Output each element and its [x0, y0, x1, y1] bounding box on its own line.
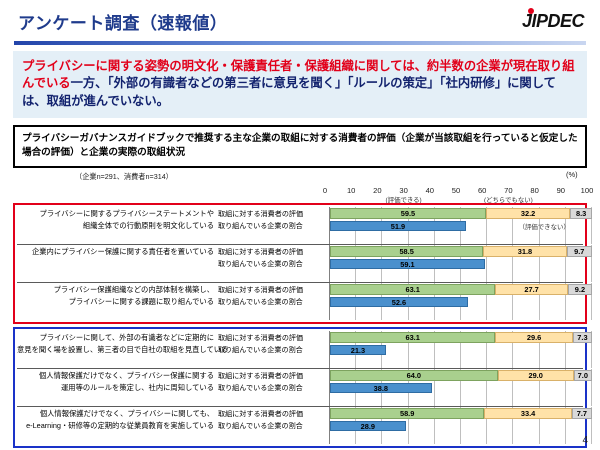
question-block: プライバシーに関して、外部の有識者などに定期的に取組に対する消費者の評価63.1…: [17, 331, 583, 368]
gridline: [591, 382, 592, 395]
gridline: [565, 382, 566, 395]
gridline: [565, 356, 566, 368]
gridline: [486, 394, 487, 406]
gridline: [512, 232, 513, 244]
gridline: [486, 356, 487, 368]
plot-company: 52.6: [329, 296, 583, 309]
question-label-line2: 組織全体での行動原則を明文化している: [17, 221, 214, 231]
consumer-evaluation-row: 個人情報保護だけでなく、プライバシー保護に関する取組に対する消費者の評価64.0…: [17, 369, 583, 382]
gridline: [408, 308, 409, 320]
gridline: [486, 308, 487, 320]
gridline: [591, 232, 592, 244]
segment-company-share: 28.9: [330, 421, 406, 432]
gridline: [539, 270, 540, 282]
gridline: [591, 308, 592, 320]
series-label-company: 取り組んでいる企業の割合: [218, 297, 322, 307]
gridline: [408, 420, 409, 433]
plot-company: 28.9: [329, 420, 583, 433]
segment-company-share: 51.9: [330, 221, 466, 232]
series-label-consumer: 取組に対する消費者の評価: [218, 285, 322, 295]
gridline: [486, 232, 487, 244]
plot-consumer: 63.127.79.2: [329, 283, 583, 296]
consumer-evaluation-row: プライバシー保護組織などの内部体制を構築し、取組に対する消費者の評価63.127…: [17, 283, 583, 296]
gridline: [408, 432, 409, 444]
segment-can-evaluate: 64.0: [330, 370, 498, 381]
gridline: [355, 432, 356, 444]
gridline: [565, 394, 566, 406]
gridline: [486, 382, 487, 395]
question-block: 個人情報保護だけでなく、プライバシーに関しても、取組に対する消費者の評価58.9…: [17, 406, 583, 444]
plot-company: 21.3: [329, 344, 583, 357]
gridline: [512, 270, 513, 282]
series-label-company: 取り組んでいる企業の割合: [218, 221, 322, 231]
question-block: プライバシーに関するプライバシーステートメントや取組に対する消費者の評価59.5…: [17, 207, 583, 244]
segment-cannot-evaluate: 7.7: [572, 408, 592, 419]
gridline: [486, 420, 487, 433]
question-block: プライバシー保護組織などの内部体制を構築し、取組に対する消費者の評価63.127…: [17, 282, 583, 320]
gridline: [591, 356, 592, 368]
gridline: [591, 258, 592, 271]
series-label-consumer: 取組に対する消費者の評価: [218, 247, 322, 257]
gridline: [539, 344, 540, 357]
gridline: [539, 296, 540, 309]
gridline: [434, 394, 435, 406]
segment-cannot-evaluate: 9.2: [568, 284, 592, 295]
slide-header: アンケート調査（速報値） JIPDEC: [0, 0, 600, 46]
gridline: [408, 232, 409, 244]
gridline: [434, 270, 435, 282]
gridline: [460, 270, 461, 282]
gridline: [434, 232, 435, 244]
gridline: [539, 432, 540, 444]
gridline: [539, 382, 540, 395]
row-spacer: [17, 308, 583, 320]
gridline: [512, 432, 513, 444]
row-spacer: [17, 394, 583, 406]
plot-spacer: [329, 432, 583, 444]
question-label-line1: 企業内にプライバシー保護に関する責任者を置いている: [17, 247, 214, 257]
x-axis-tick: 100: [581, 186, 594, 195]
gridline: [486, 296, 487, 309]
gridline: [381, 394, 382, 406]
x-axis-tick: 10: [347, 186, 355, 195]
question-label-line1: プライバシーに関するプライバシーステートメントや: [17, 209, 214, 219]
gridline: [591, 432, 592, 444]
x-axis-tick: 50: [452, 186, 460, 195]
gridline: [565, 308, 566, 320]
gridline: [460, 382, 461, 395]
gridline: [434, 308, 435, 320]
chart-group: プライバシーに関するプライバシーステートメントや取組に対する消費者の評価59.5…: [13, 203, 587, 324]
x-axis-tick: 40: [426, 186, 434, 195]
gridline: [460, 394, 461, 406]
chart-group: プライバシーに関して、外部の有識者などに定期的に取組に対する消費者の評価63.1…: [13, 327, 587, 448]
gridline: [591, 394, 592, 406]
plot-consumer: 59.532.28.3: [329, 207, 583, 220]
row-spacer: [17, 356, 583, 368]
gridline: [591, 344, 592, 357]
question-label-line2: 意見を聞く場を設置し、第三者の目で自社の取組を見直している: [17, 345, 214, 355]
company-adoption-row: 意見を聞く場を設置し、第三者の目で自社の取組を見直している取り組んでいる企業の割…: [17, 344, 583, 357]
gridline: [408, 344, 409, 357]
gridline: [512, 420, 513, 433]
gridline: [565, 270, 566, 282]
gridline: [486, 344, 487, 357]
x-axis-tick: 0: [323, 186, 327, 195]
consumer-evaluation-row: プライバシーに関して、外部の有識者などに定期的に取組に対する消費者の評価63.1…: [17, 331, 583, 344]
segment-company-share: 38.8: [330, 383, 432, 394]
segment-can-evaluate: 58.5: [330, 246, 483, 257]
gridline: [408, 270, 409, 282]
gridline: [539, 420, 540, 433]
gridline: [512, 344, 513, 357]
consumer-evaluation-row: 個人情報保護だけでなく、プライバシーに関しても、取組に対する消費者の評価58.9…: [17, 407, 583, 420]
segment-neutral: 29.6: [495, 332, 573, 343]
percent-unit-label: (%): [566, 170, 578, 179]
series-label-consumer: 取組に対する消費者の評価: [218, 209, 322, 219]
gridline: [381, 432, 382, 444]
header-divider: [14, 41, 586, 45]
plot-spacer: [329, 308, 583, 320]
segment-neutral: 33.4: [484, 408, 572, 419]
gridline: [512, 382, 513, 395]
series-label-company: 取り組んでいる企業の割合: [218, 383, 322, 393]
x-axis-tick: 90: [557, 186, 565, 195]
segment-company-share: 21.3: [330, 345, 386, 356]
gridline: [434, 356, 435, 368]
gridline: [381, 308, 382, 320]
chart-groups: プライバシーに関するプライバシーステートメントや取組に対する消費者の評価59.5…: [13, 203, 587, 448]
company-adoption-row: プライバシーに関する課題に取り組んでいる取り組んでいる企業の割合52.6: [17, 296, 583, 309]
gridline: [539, 356, 540, 368]
segment-cannot-evaluate: 7.3: [573, 332, 592, 343]
gridline: [355, 356, 356, 368]
gridline: [512, 258, 513, 271]
gridline: [565, 344, 566, 357]
plot-consumer: 58.933.47.7: [329, 407, 583, 420]
gridline: [460, 232, 461, 244]
gridline: [460, 344, 461, 357]
x-axis-tick: 20: [373, 186, 381, 195]
jipdec-logo: JIPDEC: [522, 11, 584, 32]
plot-consumer: 64.029.07.0: [329, 369, 583, 382]
lead-statement: プライバシーに関する姿勢の明文化・保護責任者・保護組織に関しては、約半数の企業が…: [13, 51, 587, 118]
gridline: [512, 356, 513, 368]
page-title: アンケート調査（速報値）: [18, 9, 227, 34]
gridline: [565, 432, 566, 444]
gridline: [565, 258, 566, 271]
gridline: [512, 220, 513, 233]
gridline: [381, 270, 382, 282]
gridline: [486, 258, 487, 271]
row-spacer: [17, 432, 583, 444]
gridline: [355, 270, 356, 282]
plot-company: 38.8: [329, 382, 583, 395]
question-block: 個人情報保護だけでなく、プライバシー保護に関する取組に対する消費者の評価64.0…: [17, 368, 583, 406]
page-number: 4: [582, 435, 588, 446]
gridline: [539, 394, 540, 406]
question-label-line1: プライバシーに関して、外部の有識者などに定期的に: [17, 333, 214, 343]
gridline: [591, 270, 592, 282]
plot-spacer: [329, 270, 583, 282]
plot-spacer: [329, 356, 583, 368]
segment-company-share: 59.1: [330, 259, 485, 270]
segment-neutral: 29.0: [498, 370, 574, 381]
question-label-line2: e-Learning・研修等の定期的な従業員教育を実施している: [17, 421, 214, 431]
segment-company-share: 52.6: [330, 297, 468, 308]
gridline: [539, 232, 540, 244]
gridline: [460, 432, 461, 444]
gridline: [408, 356, 409, 368]
question-label-line1: プライバシー保護組織などの内部体制を構築し、: [17, 285, 214, 295]
gridline: [460, 356, 461, 368]
gridline: [355, 308, 356, 320]
question-label-line2: 運用等のルールを策定し、社内に周知している: [17, 383, 214, 393]
gridline: [512, 296, 513, 309]
sample-size-note: （企業n=291、消費者n=314）: [75, 172, 173, 182]
series-label-consumer: 取組に対する消費者の評価: [218, 409, 322, 419]
gridline: [355, 232, 356, 244]
x-axis: 0102030405060708090100(評価できる)(どちらでもない): [13, 186, 587, 203]
company-adoption-row: 組織全体での行動原則を明文化している取り組んでいる企業の割合51.9（評価できな…: [17, 220, 583, 233]
question-block: 企業内にプライバシー保護に関する責任者を置いている取組に対する消費者の評価58.…: [17, 244, 583, 282]
gridline: [565, 420, 566, 433]
segment-can-evaluate: 63.1: [330, 332, 495, 343]
company-adoption-row: 取り組んでいる企業の割合59.1: [17, 258, 583, 271]
row-spacer: [17, 232, 583, 244]
gridline: [512, 308, 513, 320]
series-label-consumer: 取組に対する消費者の評価: [218, 333, 322, 343]
lead-statement-rest: 一方、「外部の有識者などの第三者に意見を聞く」「ルールの策定」「社内研修」に関し…: [22, 76, 556, 107]
gridline: [486, 220, 487, 233]
plot-consumer: 63.129.67.3: [329, 331, 583, 344]
segment-can-evaluate: 58.9: [330, 408, 484, 419]
plot-spacer: [329, 394, 583, 406]
question-label-line1: 個人情報保護だけでなく、プライバシーに関しても、: [17, 409, 214, 419]
gridline: [539, 258, 540, 271]
segment-cannot-evaluate: 9.7: [567, 246, 592, 257]
company-adoption-row: e-Learning・研修等の定期的な従業員教育を実施している取り組んでいる企業…: [17, 420, 583, 433]
series-label-company: 取り組んでいる企業の割合: [218, 345, 322, 355]
segment-can-evaluate: 63.1: [330, 284, 495, 295]
plot-company: 51.9（評価できない）: [329, 220, 583, 233]
segment-cannot-evaluate: 7.0: [574, 370, 592, 381]
gridline: [355, 394, 356, 406]
gridline: [591, 220, 592, 233]
chart-area: 0102030405060708090100(評価できる)(どちらでもない) プ…: [13, 186, 587, 448]
chart-meta: （企業n=291、消費者n=314） (%): [13, 171, 587, 186]
series-label-consumer: 取組に対する消費者の評価: [218, 371, 322, 381]
gridline: [434, 420, 435, 433]
segment-cannot-evaluate: 8.3: [570, 208, 592, 219]
company-adoption-row: 運用等のルールを策定し、社内に周知している取り組んでいる企業の割合38.8: [17, 382, 583, 395]
question-label-line1: 個人情報保護だけでなく、プライバシー保護に関する: [17, 371, 214, 381]
gridline: [486, 432, 487, 444]
plot-company: 59.1: [329, 258, 583, 271]
gridline: [408, 394, 409, 406]
series-label-company: 取り組んでいる企業の割合: [218, 259, 322, 269]
gridline: [434, 344, 435, 357]
gridline: [486, 270, 487, 282]
section-title: プライバシーガバナンスガイドブックで推奨する主な企業の取組に対する消費者の評価（…: [13, 125, 587, 168]
row-spacer: [17, 270, 583, 282]
segment-neutral: 27.7: [495, 284, 568, 295]
gridline: [512, 394, 513, 406]
gridline: [434, 382, 435, 395]
plot-consumer: 58.531.89.7: [329, 245, 583, 258]
gridline: [381, 232, 382, 244]
gridline: [460, 308, 461, 320]
consumer-evaluation-row: 企業内にプライバシー保護に関する責任者を置いている取組に対する消費者の評価58.…: [17, 245, 583, 258]
annotation-cannot-evaluate: （評価できない）: [519, 222, 570, 231]
consumer-evaluation-row: プライバシーに関するプライバシーステートメントや取組に対する消費者の評価59.5…: [17, 207, 583, 220]
series-label-company: 取り組んでいる企業の割合: [218, 421, 322, 431]
gridline: [434, 432, 435, 444]
gridline: [591, 296, 592, 309]
gridline: [539, 308, 540, 320]
gridline: [565, 232, 566, 244]
gridline: [381, 356, 382, 368]
gridline: [591, 420, 592, 433]
segment-neutral: 32.2: [486, 208, 570, 219]
gridline: [565, 296, 566, 309]
plot-spacer: [329, 232, 583, 244]
gridline: [460, 420, 461, 433]
question-label-line2: プライバシーに関する課題に取り組んでいる: [17, 297, 214, 307]
segment-neutral: 31.8: [483, 246, 566, 257]
segment-can-evaluate: 59.5: [330, 208, 486, 219]
